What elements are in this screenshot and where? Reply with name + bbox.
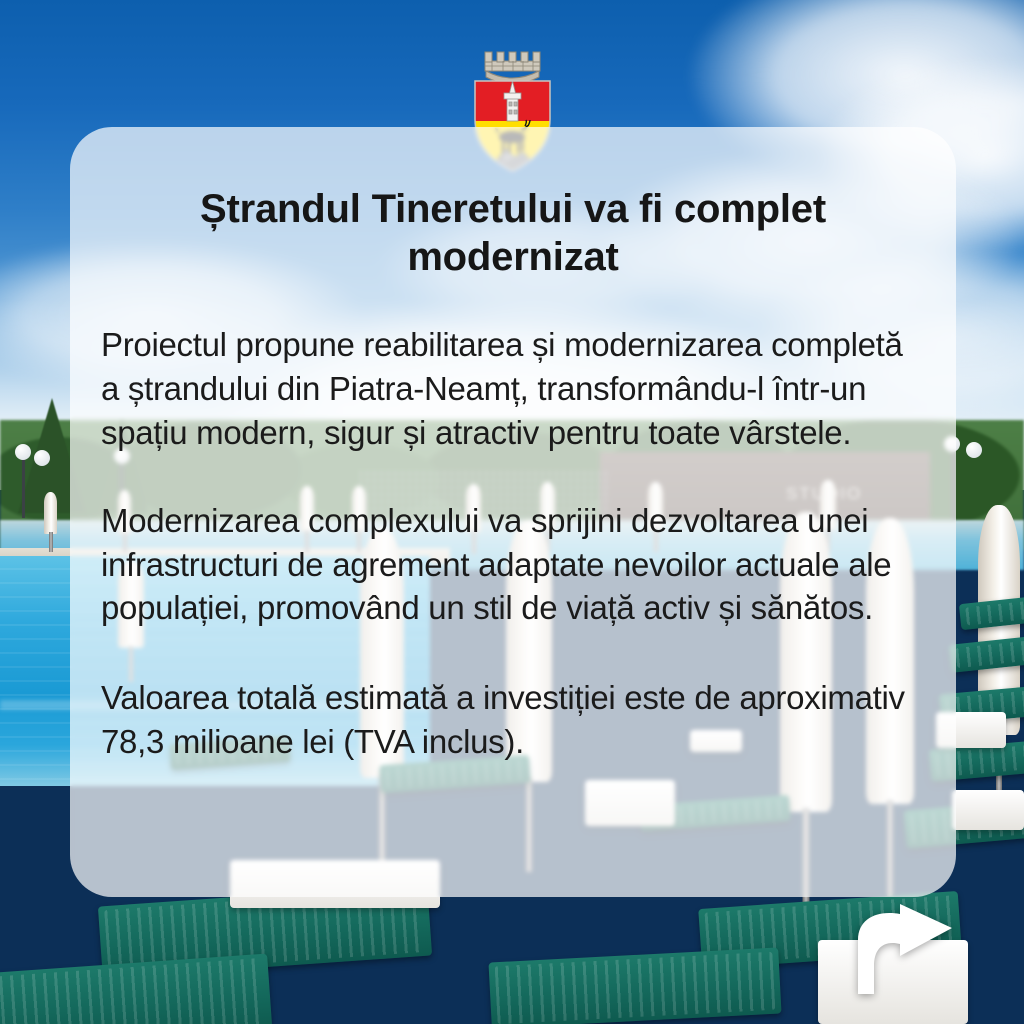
paragraph-3: Valoarea totală estimată a investiției e…	[101, 676, 925, 764]
lamp-globe	[34, 450, 50, 466]
content-card: Ștrandul Tineretului va fi complet moder…	[70, 127, 956, 897]
lamp-globe	[15, 444, 31, 460]
sun-lounger	[0, 954, 272, 1024]
white-chair	[952, 790, 1024, 830]
curved-arrow-right-icon[interactable]	[856, 904, 1006, 996]
paragraph-2: Modernizarea complexului va sprijini dez…	[101, 499, 925, 631]
closed-umbrella	[44, 492, 57, 552]
paragraph-1: Proiectul propune reabilitarea și modern…	[101, 323, 925, 455]
lamp-globe	[966, 442, 982, 458]
page-title: Ștrandul Tineretului va fi complet moder…	[101, 185, 925, 281]
sun-lounger	[488, 947, 781, 1024]
